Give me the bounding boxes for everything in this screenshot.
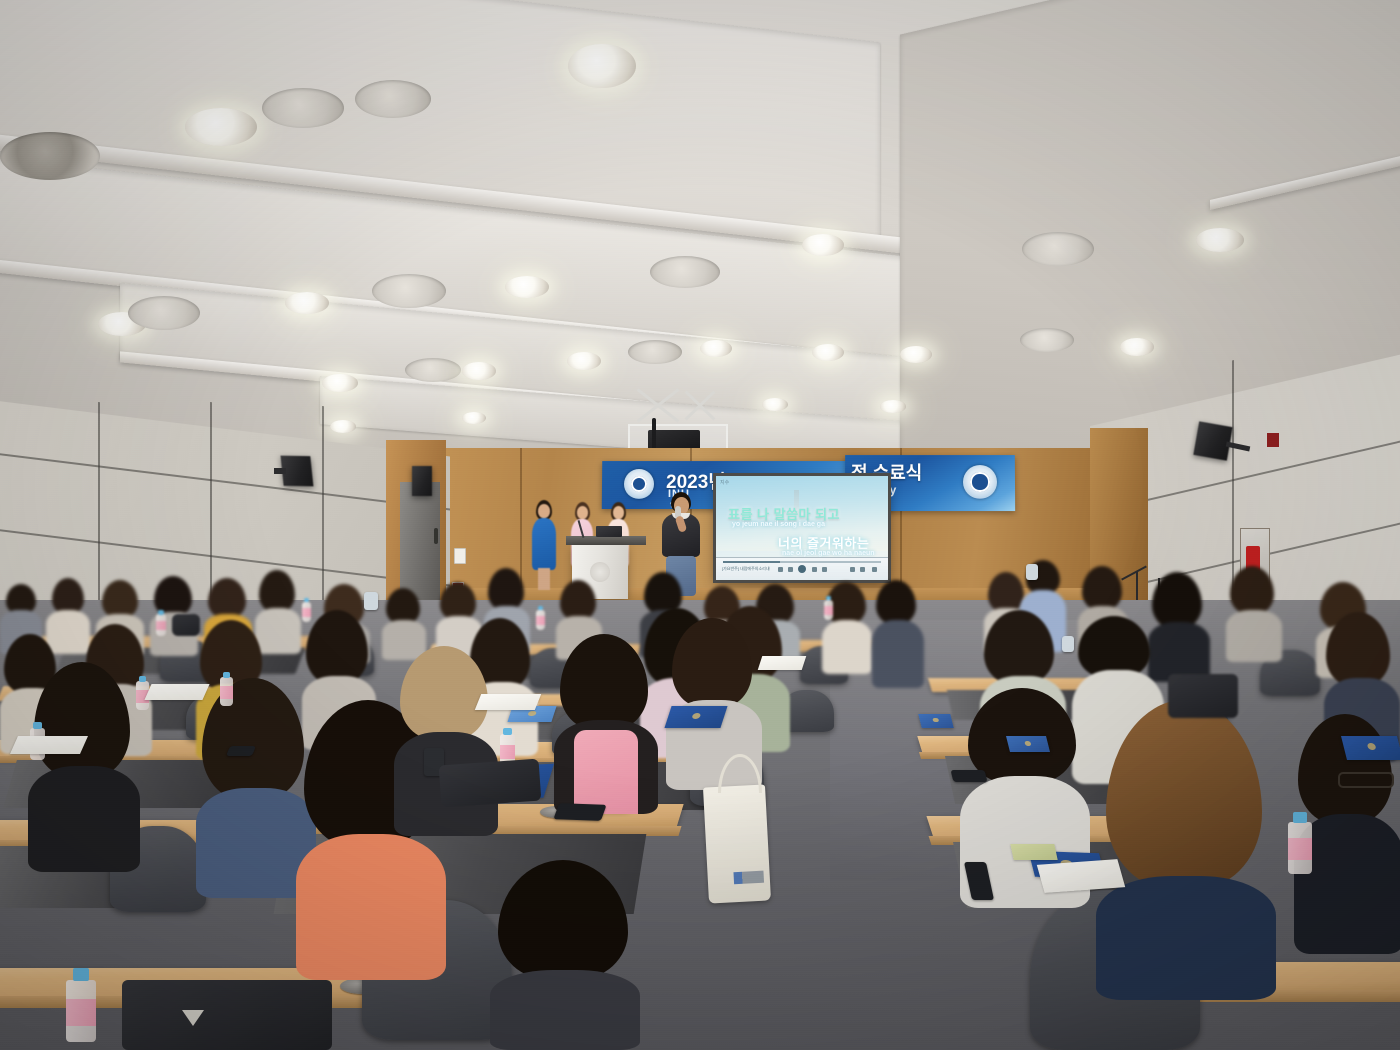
water-bottle-10[interactable] — [66, 968, 96, 1042]
audience-front-silhouette-1-hair — [498, 860, 628, 980]
banner-emblem-left — [624, 469, 654, 499]
audience-far-6-hair — [259, 570, 295, 612]
audience-near-1-hair — [34, 662, 130, 778]
ceiling-speaker-6 — [1022, 232, 1094, 266]
audience-far-21 — [1226, 566, 1282, 662]
audience-mid-10-hair — [1326, 612, 1390, 686]
ceiling-speaker-3 — [128, 296, 200, 330]
podium-top-surface — [566, 536, 646, 545]
ceiling-light-7 — [1196, 228, 1244, 252]
audience-near-4-hair — [560, 634, 648, 730]
ceiling-speaker-2 — [355, 80, 431, 118]
smartphone-held-up-3[interactable] — [1062, 636, 1074, 652]
player-fullscreen-button[interactable] — [872, 567, 877, 572]
audience-near-2-hair — [202, 678, 304, 800]
audience-far-16-hair — [876, 580, 916, 624]
smartphone-held-up-2[interactable] — [1026, 564, 1038, 580]
ceiling-speaker-7 — [405, 358, 461, 382]
ceiling-speaker-9 — [1020, 328, 1074, 352]
projection-screen: 지수 표를 나 말씀마 되고 yo jeum nae il song i dae… — [716, 476, 888, 580]
certificate-folder-5[interactable] — [1341, 736, 1400, 760]
ceiling-light-10 — [567, 352, 601, 370]
certificate-folder-2[interactable] — [664, 706, 727, 728]
black-bag-right[interactable] — [1168, 674, 1238, 718]
ceiling-light-13 — [900, 346, 932, 363]
audience-far-16-body — [872, 620, 924, 688]
water-bottle-6[interactable] — [220, 672, 233, 706]
audience-mid-4-hair — [306, 610, 368, 684]
audience-near-9-hair — [1298, 714, 1392, 824]
ceiling-light-8 — [322, 374, 358, 392]
staff-pink-head — [577, 506, 588, 519]
handout-paper-1[interactable] — [144, 684, 209, 700]
audience-near-9-glasses — [1338, 772, 1394, 788]
ceiling-light-14 — [1120, 338, 1154, 356]
audience-far-21-body — [1226, 610, 1282, 662]
screen-watermark: 지수 — [720, 479, 729, 486]
audience-near-1-body — [28, 766, 140, 872]
audience-near-1 — [28, 662, 140, 872]
ceiling-light-15 — [330, 420, 356, 433]
banner-emblem-right — [963, 465, 997, 499]
water-bottle-1[interactable] — [156, 610, 166, 636]
wall-speaker-left-upper — [412, 466, 432, 496]
lecture-hall-photo: 2023년 INU 일시 : 2 정 수료식 remony INU 지수 표를 … — [0, 0, 1400, 1050]
audience-far-8-hair — [386, 588, 420, 624]
water-bottle-3[interactable] — [536, 606, 545, 630]
audience-near-8-body — [1096, 876, 1276, 1000]
player-rewind-button[interactable] — [788, 567, 793, 572]
tote-bag-logo — [733, 871, 764, 885]
audience-far-9-hair — [440, 582, 476, 620]
ceiling-speaker-8 — [628, 340, 682, 364]
ceiling-light-16 — [462, 412, 486, 424]
lyric-line-2-romanized: nae ol jeol gae wo ha naeun — [782, 550, 875, 557]
tote-bag-inu[interactable] — [703, 784, 771, 903]
fire-alarm-right — [1266, 432, 1280, 448]
video-player-controls[interactable]: [가요반주] 내맘에주의소리내내마음... — [716, 557, 888, 580]
ceiling-light-5 — [505, 276, 549, 298]
ceiling-light-9 — [462, 362, 496, 380]
smartphone-on-desk-4[interactable] — [951, 770, 988, 782]
handout-paper-3[interactable] — [10, 736, 88, 754]
audience-far-3-hair — [102, 580, 138, 618]
ceiling-downlight-off-1 — [0, 132, 100, 180]
audience-far-15-body — [822, 620, 872, 674]
host-legs — [538, 568, 550, 590]
audience-near-4 — [554, 634, 658, 814]
audience-far-16 — [872, 580, 924, 688]
player-forward-button[interactable] — [812, 567, 817, 572]
audience-far-11-hair — [560, 580, 596, 620]
audience-mid-8-hair — [984, 610, 1054, 684]
black-bag-front-desk[interactable] — [122, 980, 332, 1050]
audience-far-10-hair — [488, 568, 524, 610]
ceiling-light-1 — [185, 108, 257, 146]
certificate-folder-7[interactable] — [918, 714, 953, 728]
podium-logo — [590, 562, 610, 582]
audience-far-19-hair — [1082, 566, 1122, 610]
black-bag-mid[interactable] — [439, 759, 542, 808]
lyric-line-1-romanized: yo jeum nae il song i dae ga — [732, 521, 825, 528]
handout-paper-6[interactable] — [1010, 844, 1057, 860]
ceiling-light-11 — [700, 340, 732, 357]
audience-far-5-hair — [208, 578, 246, 618]
handout-paper-4[interactable] — [758, 656, 807, 670]
ceiling-speaker-1 — [262, 88, 344, 128]
ceiling-speaker-5 — [650, 256, 720, 288]
host-head — [538, 504, 550, 518]
player-prev-button[interactable] — [778, 567, 783, 572]
ceiling-light-12 — [812, 344, 844, 361]
water-bottle-2[interactable] — [302, 598, 311, 622]
ceiling-light-6 — [802, 234, 844, 256]
audience-far-2-hair — [52, 578, 84, 614]
handout-paper-5[interactable] — [1037, 859, 1125, 893]
player-next-button[interactable] — [822, 567, 827, 572]
black-handbag-far[interactable] — [172, 614, 200, 636]
audience-near-3-body — [296, 834, 446, 980]
audience-near-5-hair — [400, 646, 488, 740]
audience-near-8 — [1096, 700, 1276, 1000]
door-handle-left — [434, 528, 438, 544]
water-bottle-4[interactable] — [824, 596, 833, 620]
ceiling-light-17 — [762, 398, 788, 411]
ceiling-speaker-4 — [372, 274, 446, 308]
audience-far-21-hair — [1230, 566, 1274, 614]
video-progress-bar[interactable] — [723, 561, 881, 563]
host-dress — [532, 518, 556, 570]
smartphone-on-desk-1[interactable] — [553, 803, 606, 821]
audience-near-4-pink-strap — [574, 730, 638, 814]
audience-near-8-hair — [1106, 700, 1262, 888]
certificate-folder-6[interactable] — [1006, 736, 1050, 752]
light-switch-left — [454, 548, 466, 564]
player-play-button[interactable] — [798, 565, 806, 573]
staff-cream-head — [613, 506, 624, 519]
smartphone-held-up-1[interactable] — [364, 592, 378, 610]
audience-front-silhouette-1-body — [490, 970, 640, 1050]
water-bottle-9[interactable] — [1288, 812, 1312, 874]
player-settings-button[interactable] — [860, 567, 865, 572]
ceiling-light-18 — [880, 400, 906, 413]
audience-front-silhouette-1 — [490, 860, 640, 1050]
handout-paper-2[interactable] — [475, 694, 541, 710]
player-volume-button[interactable] — [850, 567, 855, 572]
audience-far-17-hair — [988, 572, 1024, 612]
ceiling-light-4 — [285, 292, 329, 314]
audience-near-6-hair — [672, 618, 752, 708]
audience-near-5 — [394, 646, 498, 836]
smartphone-on-desk-3[interactable] — [226, 746, 256, 756]
video-caption-text: [가요반주] 내맘에주의소리내내마음... — [722, 566, 770, 572]
audience-mid-9-hair — [1078, 616, 1150, 678]
wall-speaker-left-mount — [274, 468, 286, 474]
podium-laptop — [596, 526, 622, 537]
ceiling-light-2 — [568, 44, 636, 88]
host-blue-dress — [528, 500, 558, 590]
